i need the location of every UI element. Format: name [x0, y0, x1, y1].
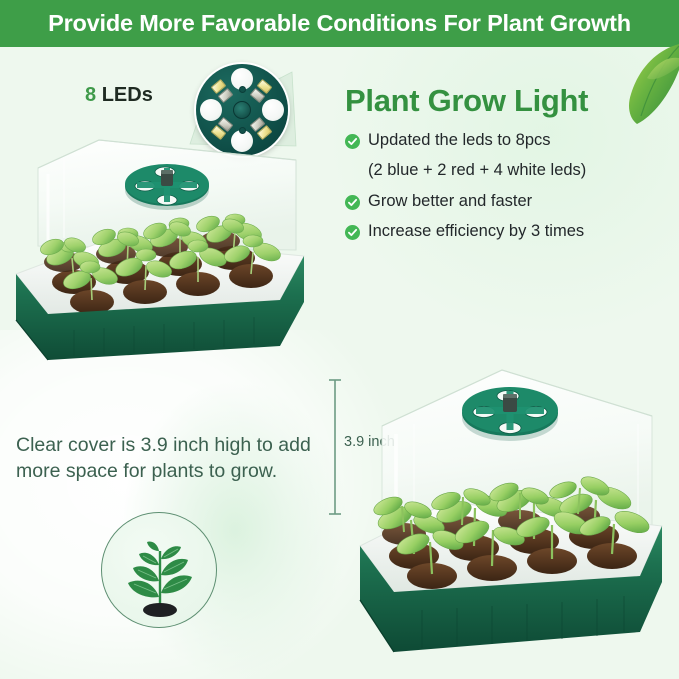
feature-text: (2 blue + 2 red + 4 white leds): [368, 160, 586, 181]
plant-seedling-icon: [101, 512, 217, 628]
feature-text: Updated the leds to 8pcs: [368, 130, 551, 151]
dimension-line: [328, 376, 342, 518]
board-hole: [200, 99, 222, 121]
banner-title: Provide More Favorable Conditions For Pl…: [48, 10, 631, 37]
page-title: Plant Grow Light: [345, 84, 675, 117]
header-banner: Provide More Favorable Conditions For Pl…: [0, 0, 679, 47]
clear-cover-note: Clear cover is 3.9 inch high to add more…: [16, 433, 326, 485]
feature-item-sub: (2 blue + 2 red + 4 white leds): [368, 160, 675, 181]
plant-seedling-graphic: [102, 513, 217, 628]
seed-starter-tray-with-dome-secondary: [352, 360, 672, 660]
leds-count-number: 8: [85, 84, 96, 106]
board-center-pad: [233, 101, 251, 119]
check-circle-icon: [345, 134, 360, 149]
right-text-column: Plant Grow Light Updated the leds to 8pc…: [345, 84, 675, 251]
feature-item: Increase efficiency by 3 times: [345, 221, 675, 242]
feature-list: Updated the leds to 8pcs (2 blue + 2 red…: [345, 130, 675, 241]
infographic-page: Provide More Favorable Conditions For Pl…: [0, 0, 679, 679]
seed-starter-tray-with-dome-main: [4, 134, 334, 364]
check-circle-icon: [345, 225, 360, 240]
board-via: [239, 86, 246, 93]
check-circle-icon: [345, 195, 360, 210]
feature-item: Grow better and faster: [345, 191, 675, 212]
feature-text: Grow better and faster: [368, 191, 532, 212]
board-hole: [262, 99, 284, 121]
feature-item: Updated the leds to 8pcs: [345, 130, 675, 151]
board-via: [239, 127, 246, 134]
feature-text: Increase efficiency by 3 times: [368, 221, 584, 242]
